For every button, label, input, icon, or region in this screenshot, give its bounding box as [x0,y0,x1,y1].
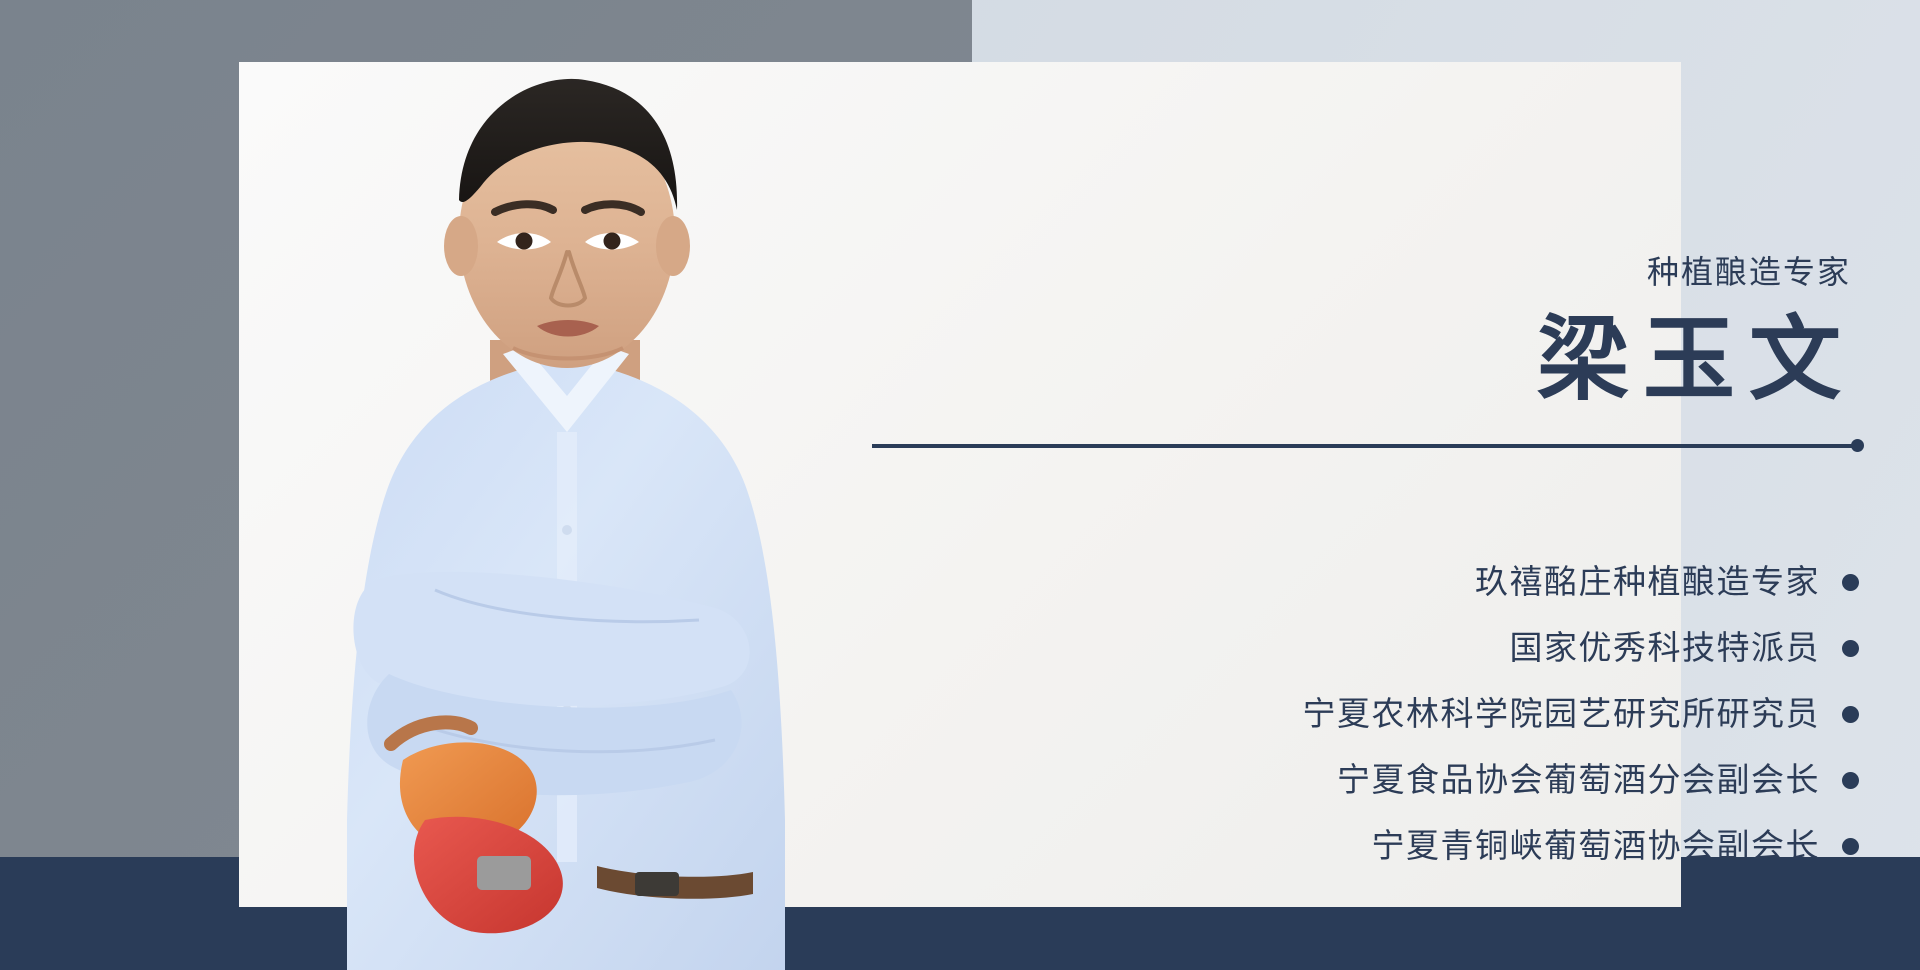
list-item: 宁夏食品协会葡萄酒分会副会长 [999,747,1859,813]
bullet-dot-icon [1842,640,1859,657]
profile-card: 种植酿造专家 梁玉文 玖禧酩庄种植酿造专家 国家优秀科技特派员 宁夏农林科学院园… [239,62,1681,907]
person-name: 梁玉文 [1279,306,1857,414]
credentials-list: 玖禧酩庄种植酿造专家 国家优秀科技特派员 宁夏农林科学院园艺研究所研究员 宁夏食… [999,549,1859,879]
profile-banner: 种植酿造专家 梁玉文 玖禧酩庄种植酿造专家 国家优秀科技特派员 宁夏农林科学院园… [0,0,1920,970]
divider-line [872,444,1858,448]
credential-text: 宁夏食品协会葡萄酒分会副会长 [1337,760,1820,800]
list-item: 玖禧酩庄种植酿造专家 [999,549,1859,615]
credential-text: 玖禧酩庄种植酿造专家 [1475,562,1820,602]
list-item: 国家优秀科技特派员 [999,615,1859,681]
divider-end-dot-icon [1851,439,1864,452]
bullet-dot-icon [1842,838,1859,855]
list-item: 宁夏农林科学院园艺研究所研究员 [999,681,1859,747]
person-name-text: 梁玉文 [1537,306,1857,414]
list-item: 宁夏青铜峡葡萄酒协会副会长 [999,813,1859,879]
bullet-dot-icon [1842,706,1859,723]
bullet-dot-icon [1842,772,1859,789]
role-label: 种植酿造专家 [1279,252,1851,292]
credential-text: 国家优秀科技特派员 [1510,628,1821,668]
credential-text: 宁夏农林科学院园艺研究所研究员 [1303,694,1821,734]
credential-text: 宁夏青铜峡葡萄酒协会副会长 [1372,826,1821,866]
bullet-dot-icon [1842,574,1859,591]
